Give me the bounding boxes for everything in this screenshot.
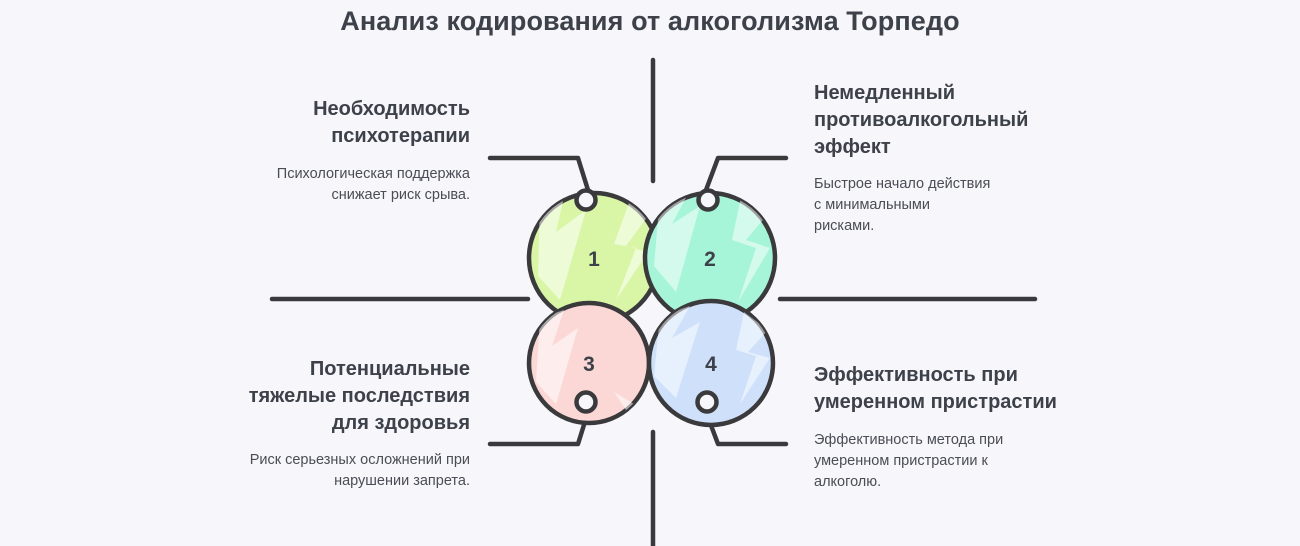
node-3-text-block: Потенциальные тяжелые последствия для зд…: [240, 356, 470, 492]
node-circle-3[interactable]: 3: [529, 303, 649, 424]
node-3-description: Риск серьезных осложнений при нарушении …: [240, 450, 470, 492]
node-1-description: Психологическая поддержка снижает риск с…: [240, 164, 470, 206]
node-1-text-block: Необходимость психотерапии Психологическ…: [240, 96, 470, 206]
connector-1: [490, 158, 588, 190]
infographic-canvas: Анализ кодирования от алкоголизма Торпед…: [0, 0, 1300, 546]
node-2-text-block: Немедленный противоалкогольный эффект Бы…: [814, 80, 1074, 237]
node-4-description: Эффективность метода при умеренном прист…: [814, 430, 1014, 493]
node-3-number: 3: [583, 353, 595, 376]
node-2-connector-ring: [699, 191, 718, 210]
node-1-number: 1: [588, 248, 600, 271]
node-2-heading: Немедленный противоалкогольный эффект: [814, 80, 1074, 160]
node-4-number: 4: [705, 353, 717, 376]
node-4-heading: Эффективность при умеренном пристрастии: [814, 362, 1074, 416]
node-4-text-block: Эффективность при умеренном пристрастии …: [814, 362, 1074, 493]
quadrant-diagram: 1 2 3: [0, 0, 1300, 546]
connector-2: [706, 158, 786, 190]
node-2-description: Быстрое начало действия с минимальными р…: [814, 174, 994, 237]
node-4-connector-ring: [698, 393, 717, 412]
node-3-connector-ring: [577, 393, 596, 412]
node-1-connector-ring: [577, 191, 596, 210]
node-3-heading: Потенциальные тяжелые последствия для зд…: [240, 356, 470, 436]
node-circle-4[interactable]: 4: [649, 301, 773, 425]
node-1-heading: Необходимость психотерапии: [240, 96, 470, 150]
node-2-number: 2: [704, 248, 716, 271]
